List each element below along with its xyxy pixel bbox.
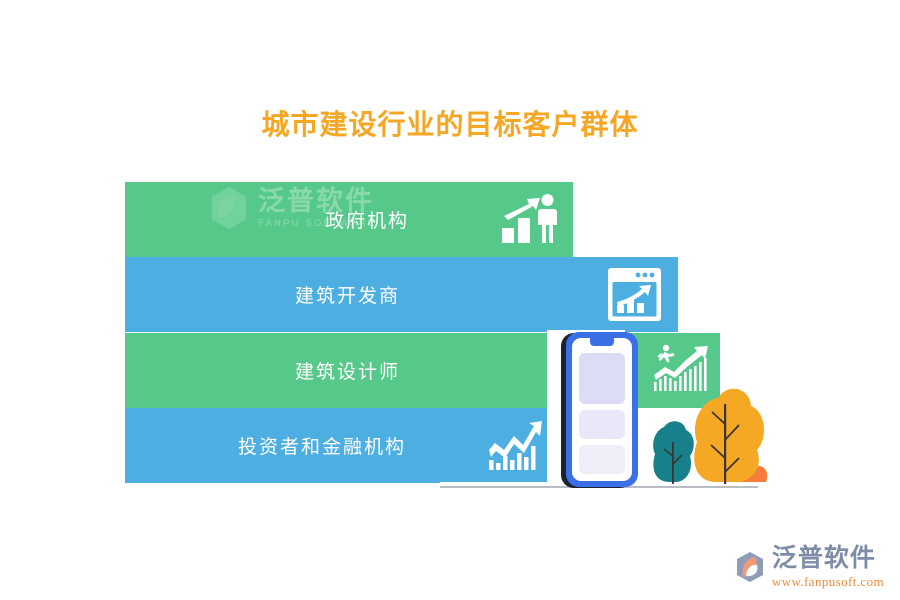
slide-canvas: 城市建设行业的目标客户群体 泛普软件 FANPU SOFTWARE 政府机构 <box>0 0 900 600</box>
smartphone-illustration <box>561 332 638 488</box>
fanpu-hexagon-leaf-logo-icon <box>733 550 767 584</box>
footer-logo-url: www.fanpusoft.com <box>772 575 884 588</box>
page-title: 城市建设行业的目标客户群体 <box>0 103 900 143</box>
bar-chart-arrow-person-icon <box>500 192 560 247</box>
bar-label-investor: 投资者和金融机构 <box>238 432 406 459</box>
fanpu-leaf-watermark-icon <box>206 185 252 231</box>
bar-row-developer[interactable]: 建筑开发商 <box>125 257 678 332</box>
footer-logo-cn-text: 泛普软件 <box>772 545 884 570</box>
browser-window-chart-icon <box>607 267 662 322</box>
footer-logo[interactable]: 泛普软件 www.fanpusoft.com <box>733 545 884 588</box>
orange-tree <box>694 389 764 484</box>
bar-row-government[interactable]: 泛普软件 FANPU SOFTWARE 政府机构 <box>125 182 573 257</box>
bar-label-architect: 建筑设计师 <box>295 357 400 384</box>
bar-label-government: 政府机构 <box>325 206 409 233</box>
teal-tree <box>653 421 694 484</box>
bar-label-developer: 建筑开发商 <box>295 281 400 308</box>
phone-and-trees-illustration <box>440 330 770 495</box>
